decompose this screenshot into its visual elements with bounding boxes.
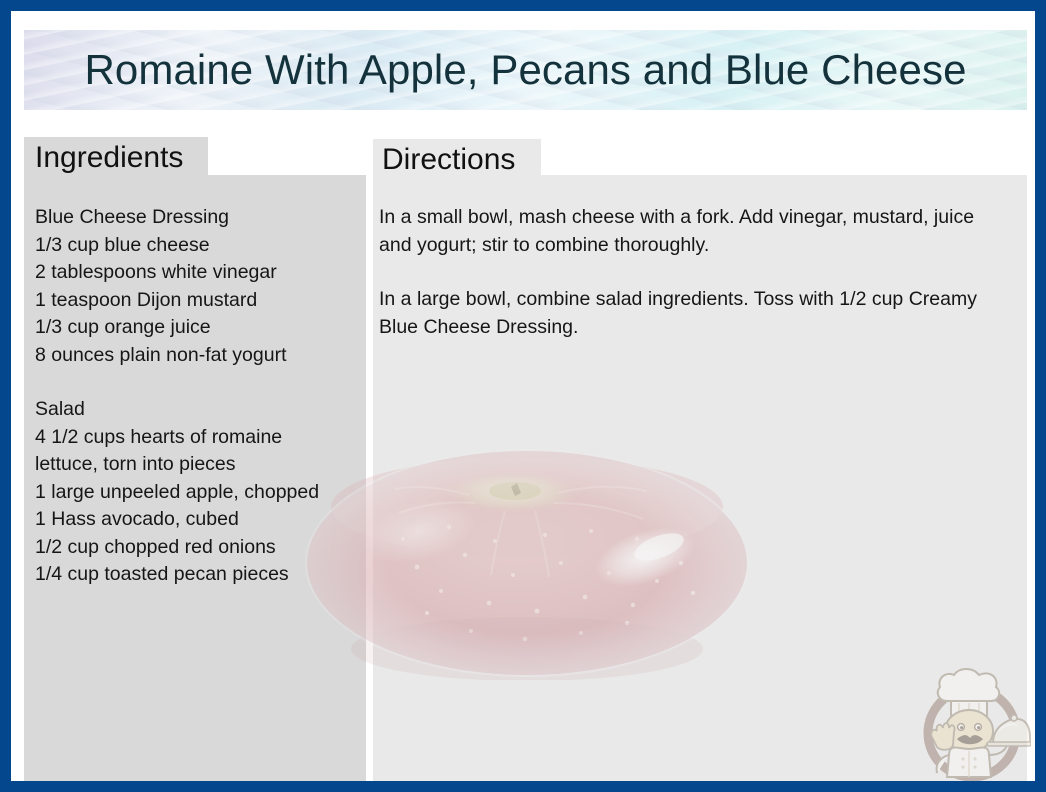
ingredients-list: Blue Cheese Dressing 1/3 cup blue cheese…	[35, 204, 365, 589]
recipe-slide: Romaine With Apple, Pecans and Blue Chee…	[0, 0, 1046, 792]
direction-paragraph: In a small bowl, mash cheese with a fork…	[379, 204, 1009, 259]
tab-directions: Directions	[373, 139, 541, 180]
page-title: Romaine With Apple, Pecans and Blue Chee…	[24, 46, 1027, 94]
list-spacer	[35, 369, 365, 396]
ingredient-item: 1/4 cup toasted pecan pieces	[35, 561, 365, 589]
ingredients-group-heading: Blue Cheese Dressing	[35, 204, 365, 232]
ingredient-item: 1 teaspoon Dijon mustard	[35, 287, 365, 315]
ingredient-item: 8 ounces plain non-fat yogurt	[35, 342, 365, 370]
ingredient-item: 1/3 cup blue cheese	[35, 232, 365, 260]
ingredients-heading: Ingredients	[35, 143, 183, 173]
ingredient-item: 1/2 cup chopped red onions	[35, 534, 365, 562]
ingredient-item: lettuce, torn into pieces	[35, 451, 365, 479]
ingredient-item: 2 tablespoons white vinegar	[35, 259, 365, 287]
chef-logo	[913, 663, 1031, 783]
ingredient-item: 4 1/2 cups hearts of romaine	[35, 424, 365, 452]
title-banner: Romaine With Apple, Pecans and Blue Chee…	[24, 30, 1027, 110]
directions-heading: Directions	[382, 145, 515, 175]
direction-paragraph: In a large bowl, combine salad ingredien…	[379, 286, 1009, 341]
ingredient-item: 1/3 cup orange juice	[35, 314, 365, 342]
tab-ingredients: Ingredients	[24, 137, 208, 178]
ingredient-item: 1 Hass avocado, cubed	[35, 506, 365, 534]
ingredients-group-heading: Salad	[35, 396, 365, 424]
directions-text: In a small bowl, mash cheese with a fork…	[379, 204, 1009, 341]
ingredient-item: 1 large unpeeled apple, chopped	[35, 479, 365, 507]
